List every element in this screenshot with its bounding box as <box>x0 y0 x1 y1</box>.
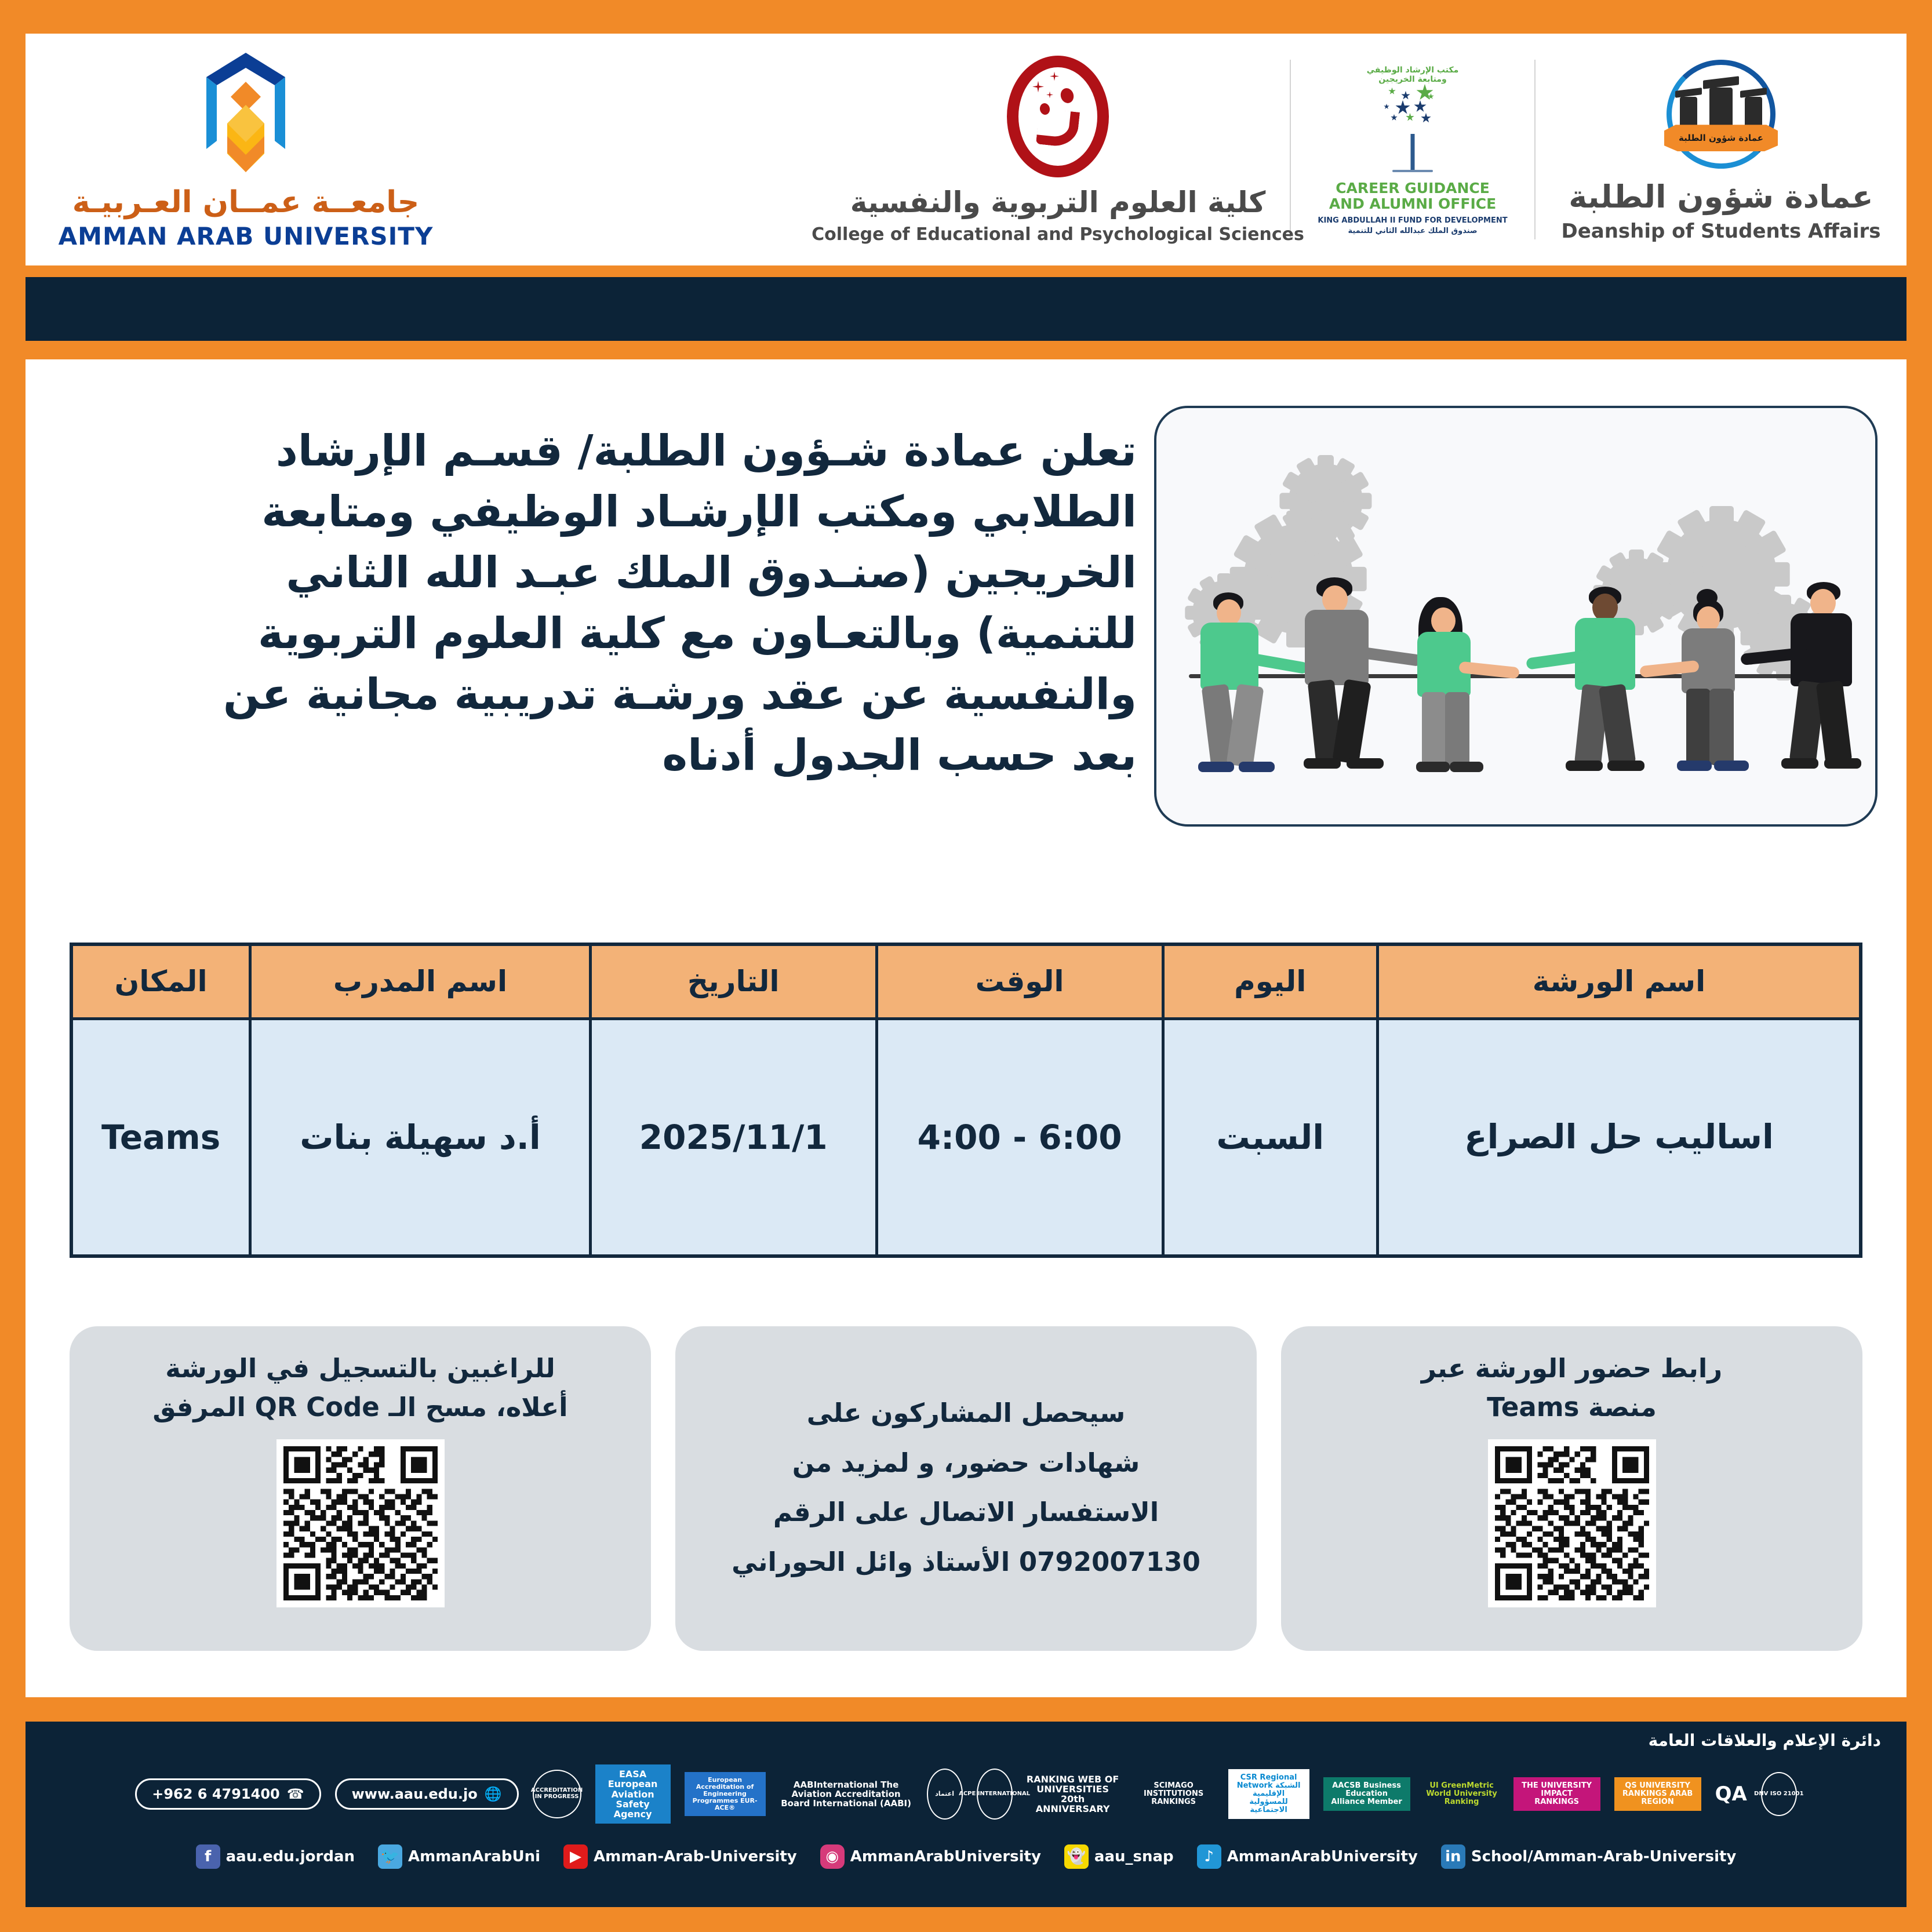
acc-qa-label: QA <box>1715 1784 1747 1805</box>
cell-place: Teams <box>71 1018 250 1256</box>
star-tree-icon: مكتب الإرشاد الوظيفي ومتابعة الخريجين <box>1360 64 1465 174</box>
navy-divider-bar <box>26 277 1906 341</box>
headline-line-6: بعد حسب الجدول أدناه <box>54 725 1137 786</box>
youtube-icon: ▶ <box>563 1844 588 1869</box>
accreditation-islamic-seal: اعتماد <box>927 1769 963 1820</box>
snapchat-handle: aau_snap <box>1094 1848 1174 1865</box>
headline-line-5: والنفسية عن عقد ورشـة تدريبية مجانية عن <box>54 664 1137 725</box>
info-box-teams-link: رابط حضور الورشة عبر منصة Teams <box>1281 1326 1862 1651</box>
teams-link-line-1: رابط حضور الورشة عبر <box>1421 1349 1722 1388</box>
career-sub-english: KING ABDULLAH II FUND FOR DEVELOPMENT <box>1318 217 1507 225</box>
accreditation-eur-ace: European Accreditation of Engineering Pr… <box>685 1772 766 1815</box>
accreditation-csr: CSR Regional Network الشبكة الإقليمية لل… <box>1228 1769 1309 1819</box>
headline-line-3: الخريجين (صنـدوق الملك عبـد الله الثاني <box>54 543 1137 603</box>
tug-of-war-illustration <box>1154 406 1878 827</box>
certificates-contact-line: 0792007130 الأستاذ وائل الحوراني <box>732 1537 1200 1587</box>
accreditation-scimago: SCIMAGO INSTITUTIONS RANKINGS <box>1133 1782 1214 1806</box>
info-boxes-row: للراغبين بالتسجيل في الورشة أعلاه، مسح ا… <box>70 1326 1862 1651</box>
footer: دائرة الإعلام والعلاقات العامة DNV ISO 2… <box>26 1722 1906 1907</box>
acc-qs-label: QS UNIVERSITY RANKINGS ARAB REGION <box>1620 1782 1695 1806</box>
table-row: اساليب حل الصراع السبت 4:00 - 6:00 2025/… <box>71 1018 1861 1256</box>
snapchat-icon: 👻 <box>1064 1844 1089 1869</box>
accreditation-qs-rankings: QS UNIVERSITY RANKINGS ARAB REGION <box>1614 1777 1701 1811</box>
instagram-handle: AmmanArabUniversity <box>850 1848 1041 1865</box>
hero-section: تعلن عمادة شـؤون الطلبة/ قسـم الإرشاد ال… <box>26 406 1906 827</box>
accreditation-dnv: DNV ISO 21001 <box>1761 1772 1797 1816</box>
acc-ui-label: UI GreenMetric World University Ranking <box>1424 1782 1500 1806</box>
accreditation-ranking-web: RANKING WEB OF UNIVERSITIES 20th ANNIVER… <box>1027 1774 1119 1814</box>
phone-pill[interactable]: +962 6 4791400 ☎ <box>135 1778 321 1810</box>
youtube-handle: Amman-Arab-University <box>594 1848 797 1865</box>
th-workshop: اسم الورشة <box>1378 944 1861 1018</box>
tiktok-handle: AmmanArabUniversity <box>1227 1848 1418 1865</box>
social-link-twitter[interactable]: 🐦 AmmanArabUni <box>378 1844 540 1869</box>
th-time: الوقت <box>876 944 1163 1018</box>
aau-arabic-name: جامعــة عمــان العـربيـة <box>72 187 420 217</box>
person-5 <box>1643 595 1748 784</box>
career-arc-arabic: مكتب الإرشاد الوظيفي ومتابعة الخريجين <box>1360 66 1465 84</box>
poster-root: عمادة شؤون الطلبة عمادة شؤون الطلبة Dean… <box>0 0 1932 1932</box>
tiktok-icon: ♪ <box>1197 1844 1221 1869</box>
announcement-headline: تعلن عمادة شـؤون الطلبة/ قسـم الإرشاد ال… <box>54 406 1137 786</box>
social-link-facebook[interactable]: f aau.edu.jordan <box>196 1844 355 1869</box>
cell-time: 4:00 - 6:00 <box>876 1018 1163 1256</box>
person-4 <box>1533 587 1643 784</box>
logo-amman-arab-university: جامعــة عمــان العـربيـة AMMAN ARAB UNIV… <box>26 34 466 265</box>
accreditation-in-progress: ACCREDITATION IN PROGRESS <box>533 1770 581 1818</box>
accreditation-aabi: AABInternational The Aviation Accreditat… <box>780 1780 913 1809</box>
info-box-certificates: سيحصل المشاركون على شهادات حضور، و لمزيد… <box>675 1326 1257 1651</box>
schedule-table-wrapper: اسم الورشة اليوم الوقت التاريخ اسم المدر… <box>70 943 1862 1258</box>
college-arabic-name: كلية العلوم التربوية والنفسية <box>850 188 1266 217</box>
table-header-row: اسم الورشة اليوم الوقت التاريخ اسم المدر… <box>71 944 1861 1018</box>
college-english-name: College of Educational and Psychological… <box>812 225 1304 244</box>
certificates-line-3: الاستفسار الاتصال على الرقم <box>732 1487 1200 1537</box>
schedule-table: اسم الورشة اليوم الوقت التاريخ اسم المدر… <box>70 943 1862 1258</box>
person-3 <box>1406 597 1510 784</box>
accreditation-easa: EASA European Aviation Safety Agency <box>595 1764 671 1824</box>
phone-text: +962 6 4791400 <box>152 1786 280 1802</box>
accreditation-ui-greenmetric: UI GreenMetric World University Ranking <box>1424 1782 1500 1806</box>
accreditation-aau-qa: QA <box>1715 1784 1747 1805</box>
logo-career-guidance-and-alumni-office: مكتب الإرشاد الوظيفي ومتابعة الخريجين CA… <box>1291 34 1534 265</box>
social-link-tiktok[interactable]: ♪ AmmanArabUniversity <box>1197 1844 1418 1869</box>
certificates-text: سيحصل المشاركون على شهادات حضور، و لمزيد… <box>732 1388 1200 1587</box>
red-oval-figure-icon <box>1007 56 1109 177</box>
th-place: المكان <box>71 944 250 1018</box>
header-logo-bar: عمادة شؤون الطلبة عمادة شؤون الطلبة Dean… <box>26 34 1906 265</box>
instagram-icon: ◉ <box>820 1844 845 1869</box>
facebook-icon: f <box>196 1844 220 1869</box>
twitter-handle: AmmanArabUni <box>408 1848 540 1865</box>
social-link-youtube[interactable]: ▶ Amman-Arab-University <box>563 1844 797 1869</box>
headline-line-1: تعلن عمادة شـؤون الطلبة/ قسـم الإرشاد <box>54 421 1137 482</box>
registration-qr-code[interactable] <box>276 1439 445 1607</box>
career-english-line2: AND ALUMNI OFFICE <box>1329 196 1496 212</box>
acc-scimago-label: SCIMAGO INSTITUTIONS RANKINGS <box>1133 1782 1214 1806</box>
deanship-english-name: Deanship of Students Affairs <box>1561 221 1880 242</box>
acc-aabi-label: AABInternational The Aviation Accreditat… <box>780 1780 913 1809</box>
headline-line-2: الطلابي ومكتب الإرشـاد الوظيفي ومتابعة <box>54 482 1137 543</box>
website-text: www.aau.edu.jo <box>352 1786 478 1802</box>
person-6 <box>1750 582 1860 784</box>
phone-icon: ☎ <box>287 1786 304 1802</box>
person-1 <box>1194 592 1298 784</box>
accreditation-aacsb: AACSB Business Education Alliance Member <box>1323 1777 1410 1811</box>
headline-line-4: للتنمية) وبالتعـاون مع كلية العلوم الترب… <box>54 603 1137 664</box>
twitter-icon: 🐦 <box>378 1844 402 1869</box>
person-2 <box>1298 577 1408 784</box>
cell-day: السبت <box>1163 1018 1377 1256</box>
accreditation-acpe: ACPE INTERNATIONAL <box>977 1769 1013 1820</box>
acc-eurace-label: European Accreditation of Engineering Pr… <box>690 1777 760 1811</box>
th-trainer: اسم المدرب <box>250 944 591 1018</box>
acc-inprogress-label: ACCREDITATION IN PROGRESS <box>531 1788 583 1800</box>
acc-csr-label: CSR Regional Network الشبكة الإقليمية لل… <box>1234 1774 1304 1814</box>
th-day: اليوم <box>1163 944 1377 1018</box>
acc-acpe-label: ACPE INTERNATIONAL <box>959 1791 1030 1798</box>
social-links-row: f aau.edu.jordan 🐦 AmmanArabUni ▶ Amman-… <box>26 1844 1906 1869</box>
acc-aacsb-label: AACSB Business Education Alliance Member <box>1329 1782 1405 1806</box>
social-link-snapchat[interactable]: 👻 aau_snap <box>1064 1844 1174 1869</box>
cell-date: 2025/11/1 <box>590 1018 876 1256</box>
teams-meeting-qr-code[interactable] <box>1488 1439 1656 1607</box>
registration-line-1: للراغبين بالتسجيل في الورشة <box>152 1349 567 1388</box>
th-date: التاريخ <box>590 944 876 1018</box>
acc-easa-label: EASA European Aviation Safety Agency <box>601 1769 665 1819</box>
certificates-line-2: شهادات حضور، و لمزيد من <box>732 1438 1200 1488</box>
acc-rankingweb-label: RANKING WEB OF UNIVERSITIES 20th ANNIVER… <box>1027 1774 1119 1814</box>
acc-the-label: THE UNIVERSITY IMPACT RANKINGS <box>1519 1782 1595 1806</box>
website-pill[interactable]: www.aau.edu.jo 🌐 <box>335 1778 519 1810</box>
registration-line-2: أعلاه، مسح الـ QR Code المرفق <box>152 1388 567 1427</box>
logo-divider-1 <box>1534 60 1536 239</box>
acc-dnv-label: DNV ISO 21001 <box>1754 1791 1804 1798</box>
teams-link-text: رابط حضور الورشة عبر منصة Teams <box>1421 1349 1722 1427</box>
cell-workshop: اساليب حل الصراع <box>1378 1018 1861 1256</box>
certificates-line-1: سيحصل المشاركون على <box>732 1388 1200 1438</box>
linkedin-handle: School/Amman-Arab-University <box>1471 1848 1737 1865</box>
globe-icon: 🌐 <box>485 1786 502 1802</box>
acc-islamic-label: اعتماد <box>935 1791 954 1798</box>
info-box-registration: للراغبين بالتسجيل في الورشة أعلاه، مسح ا… <box>70 1326 651 1651</box>
social-link-linkedin[interactable]: in School/Amman-Arab-University <box>1441 1844 1737 1869</box>
logo-college-of-educational-and-psychological-sciences: كلية العلوم التربوية والنفسية College of… <box>826 34 1290 265</box>
linkedin-icon: in <box>1441 1844 1465 1869</box>
poster-body: تعلن عمادة شـؤون الطلبة/ قسـم الإرشاد ال… <box>26 359 1906 1697</box>
teams-link-line-2: منصة Teams <box>1421 1388 1722 1427</box>
footer-department-label: دائرة الإعلام والعلاقات العامة <box>1649 1731 1881 1750</box>
deanship-arabic-name: عمادة شؤون الطلبة <box>1569 181 1873 213</box>
logo-deanship-of-students-affairs: عمادة شؤون الطلبة عمادة شؤون الطلبة Dean… <box>1536 34 1906 265</box>
registration-text: للراغبين بالتسجيل في الورشة أعلاه، مسح ا… <box>152 1349 567 1427</box>
accreditation-logos-row: DNV ISO 21001 QA QS UNIVERSITY RANKINGS … <box>26 1764 1906 1824</box>
crest-ribbon-text: عمادة شؤون الطلبة <box>1679 133 1763 143</box>
career-sub-arabic: صندوق الملك عبدالله الثاني للتنمية <box>1348 227 1477 235</box>
aau-english-name: AMMAN ARAB UNIVERSITY <box>59 223 434 250</box>
career-english-line1: CAREER GUIDANCE <box>1336 180 1490 197</box>
aau-diamond-icon <box>188 49 304 177</box>
logo-divider-2 <box>1290 60 1291 239</box>
social-link-instagram[interactable]: ◉ AmmanArabUniversity <box>820 1844 1041 1869</box>
facebook-handle: aau.edu.jordan <box>226 1848 355 1865</box>
deanship-crest-icon: عمادة شؤون الطلبة <box>1663 56 1779 172</box>
cell-trainer: أ.د سهيلة بنات <box>250 1018 591 1256</box>
accreditation-the-impact: THE UNIVERSITY IMPACT RANKINGS <box>1513 1777 1600 1811</box>
